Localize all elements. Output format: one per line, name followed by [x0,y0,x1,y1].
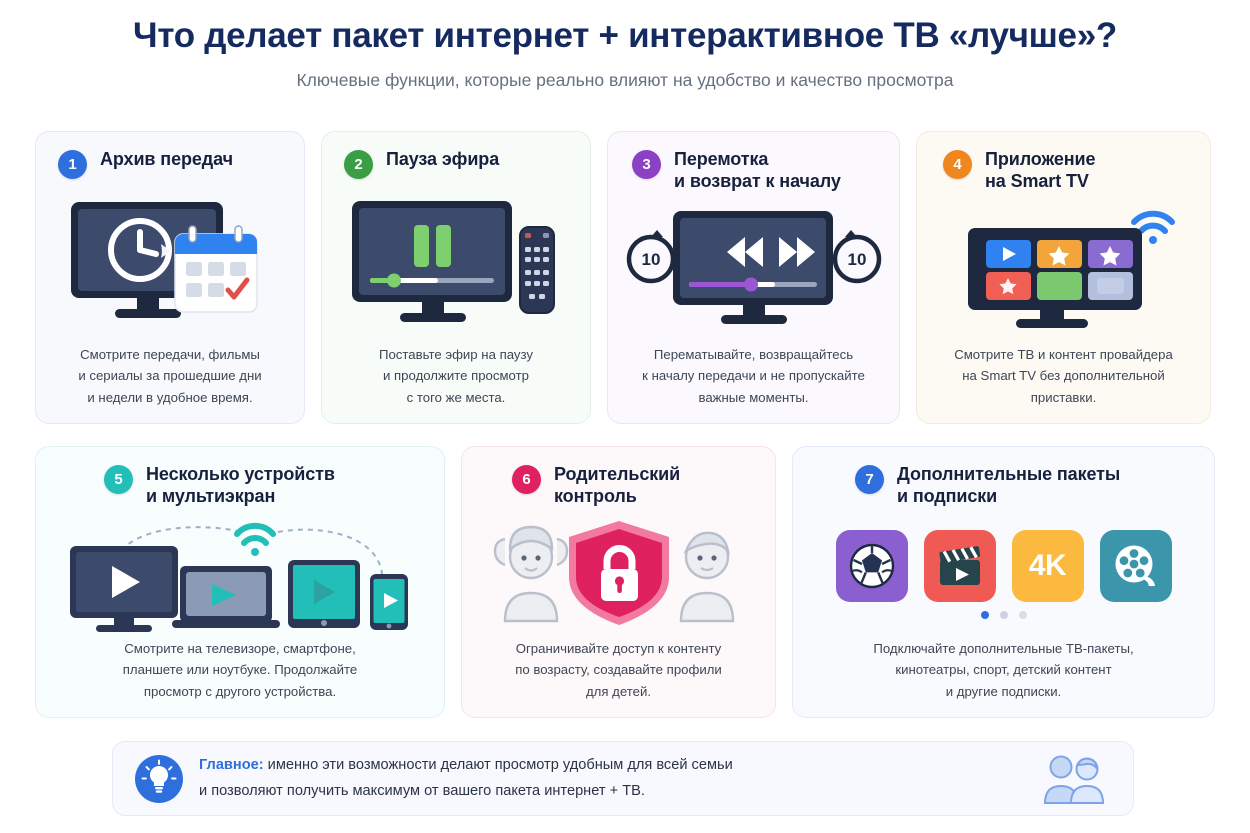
clapperboard-tile[interactable] [924,530,996,602]
card-title: Приложение на Smart TV [985,149,1095,193]
card-number-badge: 7 [855,465,884,494]
film-reel-icon [1113,543,1159,589]
card-header: 5 Несколько устройств и мультиэкран [36,447,444,508]
carousel-dot-active[interactable] [981,611,989,619]
card-description: Смотрите передачи, фильмы и сериалы за п… [36,344,304,423]
footer-line-1: именно эти возможности делают просмотр у… [264,757,733,773]
carousel-dot[interactable] [1019,611,1027,619]
carousel-dots[interactable] [981,611,1027,619]
card-description: Подключайте дополнительные ТВ-пакеты, ки… [793,638,1214,717]
lightbulb-icon [135,755,183,803]
card-header: 2 Пауза эфира [322,132,590,179]
card-number-badge: 2 [344,150,373,179]
card-archive[interactable]: 1 Архив передач [35,131,305,424]
shield-lock-kids-icon [462,508,775,638]
card-description: Ограничивайте доступ к контенту по возра… [462,638,775,717]
footer-banner: Главное: именно эти возможности делают п… [112,741,1134,816]
card-header: 1 Архив передач [36,132,304,179]
wifi-icon [237,526,273,556]
carousel-dot[interactable] [1000,611,1008,619]
card-header: 3 Перемотка и возврат к началу [608,132,899,193]
tv-clock-calendar-icon [36,179,304,344]
card-description: Перематывайте, возвращайтесь к началу пе… [608,344,899,423]
film-reel-tile[interactable] [1100,530,1172,602]
football-tile[interactable] [836,530,908,602]
svg-text:10: 10 [847,250,866,269]
card-title: Пауза эфира [386,149,499,171]
card-title: Родительский контроль [554,464,680,508]
card-multidevice[interactable]: 5 Несколько устройств и мультиэкран [35,446,445,718]
card-title: Архив передач [100,149,233,171]
clapperboard-icon [936,544,984,588]
content-packs-tiles-icon: 4K [793,508,1214,638]
smart-tv-apps-wifi-icon [917,193,1210,344]
card-number-badge: 1 [58,150,87,179]
multi-device-wifi-icon [36,508,444,638]
card-title: Несколько устройств и мультиэкран [146,464,335,508]
two-people-icon [1039,753,1111,805]
card-header: 6 Родительский контроль [462,447,775,508]
cards-row-2: 5 Несколько устройств и мультиэкран [35,446,1215,718]
card-header: 4 Приложение на Smart TV [917,132,1210,193]
card-title: Дополнительные пакеты и подписки [897,464,1120,508]
card-number-badge: 4 [943,150,972,179]
card-header: 7 Дополнительные пакеты и подписки [793,447,1214,508]
header: Что делает пакет интернет + интерактивно… [0,0,1250,91]
tv-rewind-forward-icon: 10 10 [608,193,899,344]
card-smart-tv[interactable]: 4 Приложение на Smart TV [916,131,1211,424]
card-extra-packages[interactable]: 7 Дополнительные пакеты и подписки [792,446,1215,718]
football-icon [849,543,895,589]
card-number-badge: 6 [512,465,541,494]
footer-lead: Главное: [199,757,264,773]
footer-text: Главное: именно эти возможности делают п… [199,753,1029,803]
svg-text:10: 10 [641,250,660,269]
card-rewind[interactable]: 3 Перемотка и возврат к началу [607,131,900,424]
boy-avatar-icon [681,533,733,621]
girl-avatar-icon [495,527,567,621]
tv-pause-remote-icon [322,179,590,344]
card-title: Перемотка и возврат к началу [674,149,841,193]
page-subtitle: Ключевые функции, которые реально влияют… [0,70,1250,91]
card-description: Смотрите ТВ и контент провайдера на Smar… [917,344,1210,423]
card-description: Смотрите на телевизоре, смартфоне, планш… [36,638,444,717]
card-parental-control[interactable]: 6 Родительский контроль [461,446,776,718]
page-title: Что делает пакет интернет + интерактивно… [0,16,1250,56]
fourk-tile[interactable]: 4K [1012,530,1084,602]
cards-row-1: 1 Архив передач [35,131,1215,424]
card-number-badge: 5 [104,465,133,494]
footer-line-2: и позволяют получить максимум от вашего … [199,779,1029,804]
card-number-badge: 3 [632,150,661,179]
infographic-page: Что делает пакет интернет + интерактивно… [0,0,1250,833]
card-pause[interactable]: 2 Пауза эфира [321,131,591,424]
card-description: Поставьте эфир на паузу и продолжите про… [322,344,590,423]
fourk-label: 4K [1029,549,1066,583]
tiles-strip: 4K [836,530,1172,602]
